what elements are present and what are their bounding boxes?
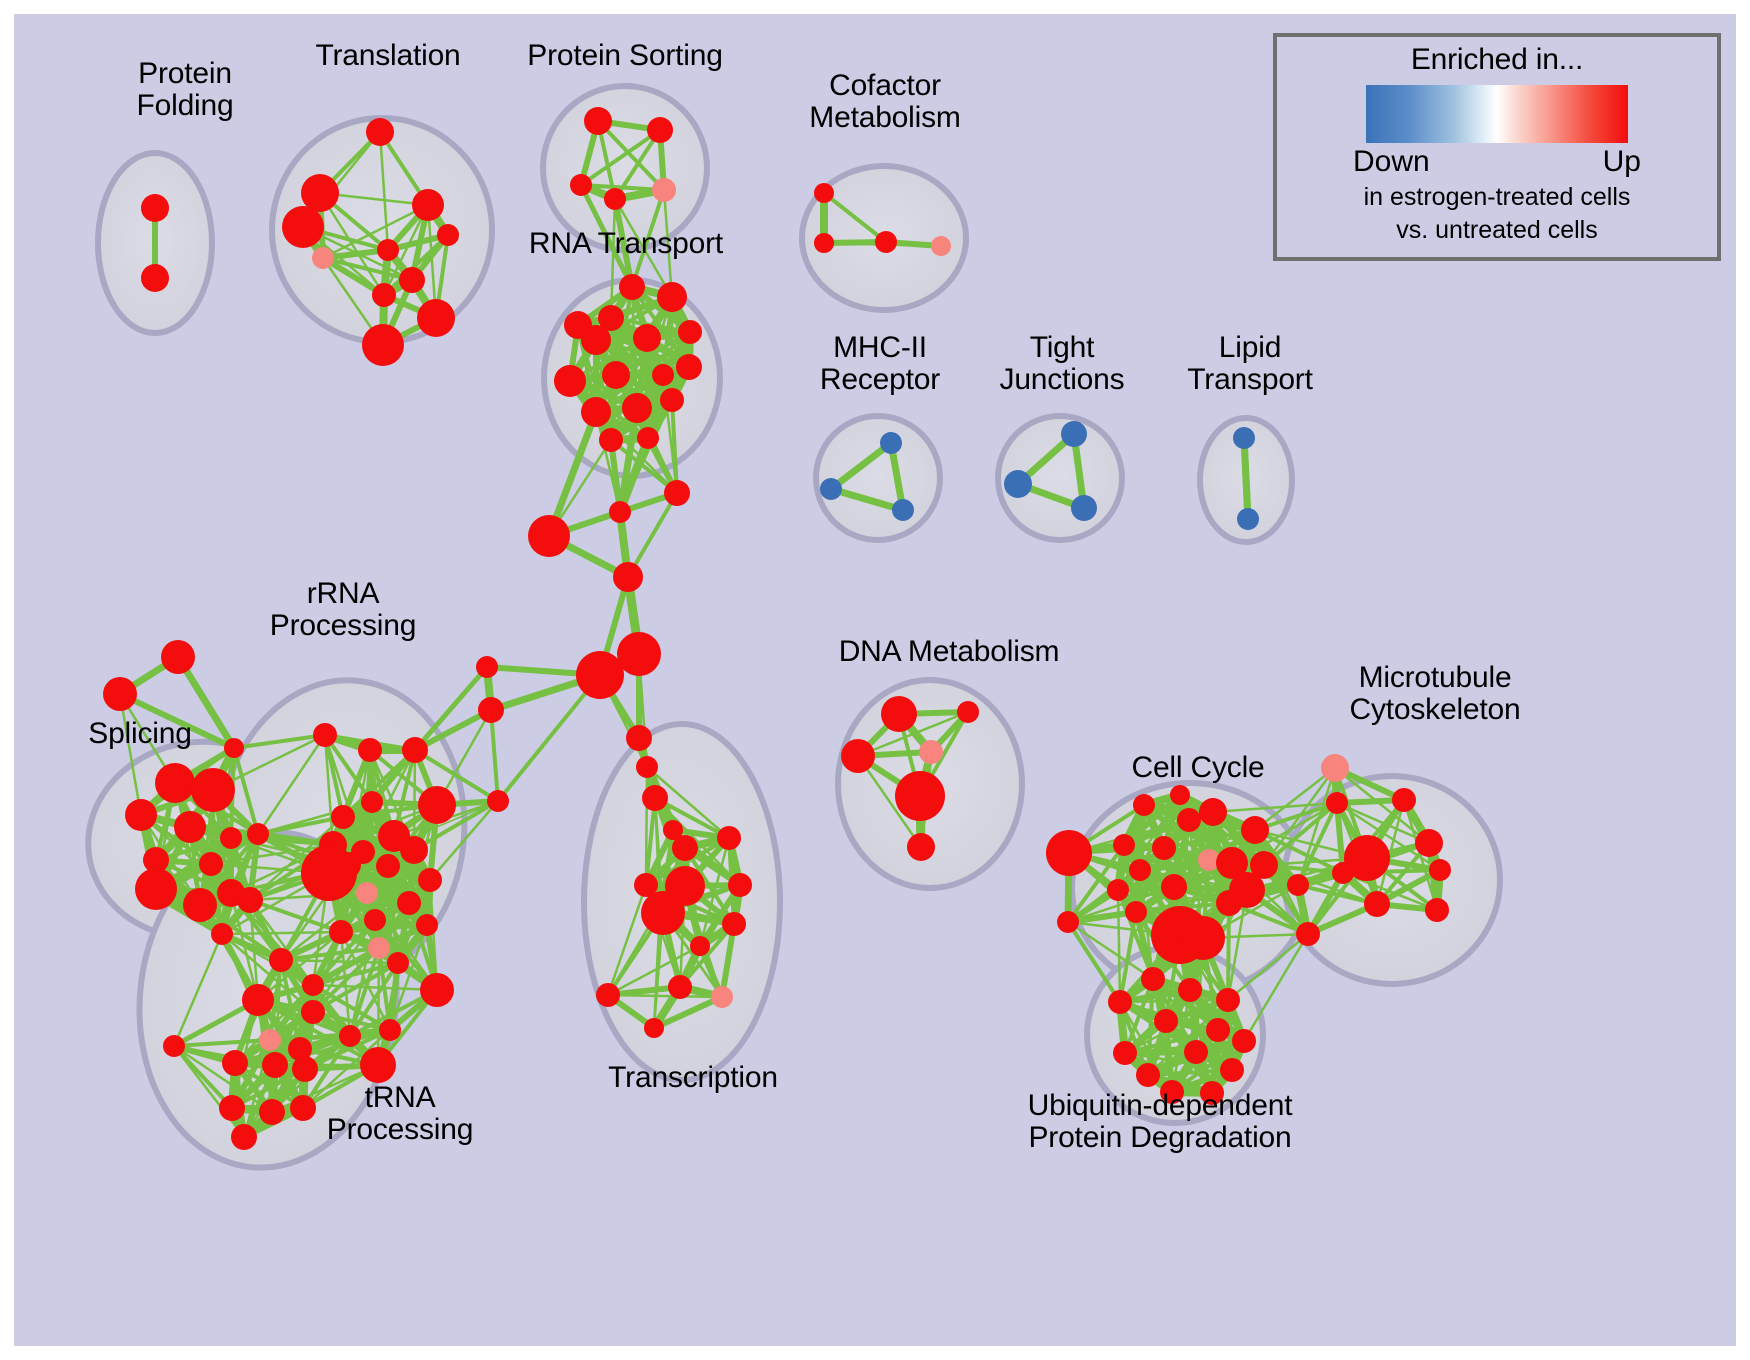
network-node[interactable] — [1113, 1041, 1137, 1065]
cluster-label-microtubule-cytoskeleton: Microtubule Cytoskeleton — [1310, 662, 1560, 726]
network-node[interactable] — [1220, 1058, 1244, 1082]
network-node[interactable] — [222, 1050, 248, 1076]
network-node[interactable] — [652, 364, 674, 386]
network-node[interactable] — [301, 845, 357, 901]
network-node[interactable] — [366, 118, 394, 146]
network-node[interactable] — [125, 799, 157, 831]
network-node[interactable] — [437, 224, 459, 246]
network-node[interactable] — [617, 632, 661, 676]
network-node[interactable] — [1321, 754, 1349, 782]
network-node[interactable] — [722, 912, 746, 936]
network-node[interactable] — [907, 833, 935, 861]
cluster-label-transcription: Transcription — [580, 1062, 806, 1094]
network-node[interactable] — [1332, 862, 1354, 884]
legend-up-label: Up — [1603, 145, 1641, 179]
network-node[interactable] — [1133, 794, 1155, 816]
cluster-label-lipid-transport: Lipid Transport — [1172, 332, 1328, 396]
cluster-label-protein-sorting: Protein Sorting — [500, 40, 750, 72]
network-node[interactable] — [331, 805, 355, 829]
network-node[interactable] — [412, 189, 444, 221]
network-node[interactable] — [269, 948, 293, 972]
network-node[interactable] — [1181, 916, 1225, 960]
network-node[interactable] — [242, 984, 274, 1016]
network-node[interactable] — [302, 974, 324, 996]
figure-root: Protein FoldingTranslationProtein Sortin… — [0, 0, 1750, 1360]
network-node[interactable] — [690, 936, 710, 956]
network-node[interactable] — [262, 1052, 288, 1078]
network-node[interactable] — [820, 478, 842, 500]
cluster-label-cofactor-metabolism: Cofactor Metabolism — [790, 70, 980, 134]
legend-panel: Enriched in... Down Up in estrogen-treat… — [1273, 33, 1721, 261]
cluster-label-rrna-processing: rRNA Processing — [248, 578, 438, 642]
network-node[interactable] — [161, 640, 195, 674]
network-node[interactable] — [602, 361, 630, 389]
network-node[interactable] — [678, 320, 702, 344]
cluster-label-tight-junctions: Tight Junctions — [988, 332, 1136, 396]
network-node[interactable] — [1392, 788, 1416, 812]
network-node[interactable] — [1216, 890, 1242, 916]
legend-caption-line2: vs. untreated cells — [1396, 216, 1598, 245]
network-node[interactable] — [1206, 1018, 1230, 1042]
network-node[interactable] — [1415, 829, 1443, 857]
network-node[interactable] — [609, 501, 631, 523]
network-node[interactable] — [487, 790, 509, 812]
network-node[interactable] — [652, 178, 676, 202]
network-node[interactable] — [581, 397, 611, 427]
network-node[interactable] — [313, 723, 337, 747]
network-node[interactable] — [361, 791, 383, 813]
network-node[interactable] — [657, 282, 687, 312]
network-node[interactable] — [622, 393, 652, 423]
network-node[interactable] — [1107, 879, 1129, 901]
network-node[interactable] — [312, 247, 334, 269]
network-node[interactable] — [637, 427, 659, 449]
network-node[interactable] — [478, 697, 504, 723]
network-node[interactable] — [402, 737, 428, 763]
network-node[interactable] — [103, 677, 137, 711]
network-node[interactable] — [191, 768, 235, 812]
network-node[interactable] — [1129, 859, 1151, 881]
cluster-label-translation: Translation — [288, 40, 488, 72]
network-node[interactable] — [1233, 427, 1255, 449]
network-node[interactable] — [292, 1056, 318, 1082]
network-node[interactable] — [339, 1025, 361, 1047]
network-node[interactable] — [476, 656, 498, 678]
network-node[interactable] — [368, 937, 390, 959]
network-node[interactable] — [1296, 922, 1320, 946]
network-node[interactable] — [584, 107, 612, 135]
network-node[interactable] — [1326, 792, 1348, 814]
cluster-label-rna-transport: RNA Transport — [498, 228, 754, 260]
cluster-label-cell-cycle: Cell Cycle — [1108, 752, 1288, 784]
network-node[interactable] — [664, 480, 690, 506]
network-node[interactable] — [814, 183, 834, 203]
network-node[interactable] — [554, 365, 586, 397]
network-node[interactable] — [841, 739, 875, 773]
network-node[interactable] — [1241, 816, 1269, 844]
cluster-label-mhc-ii-receptor: MHC-II Receptor — [800, 332, 960, 396]
cluster-hull-mhc-ii-receptor[interactable] — [816, 416, 940, 540]
network-node[interactable] — [599, 428, 623, 452]
network-node[interactable] — [711, 986, 733, 1008]
network-node[interactable] — [957, 701, 979, 723]
network-node[interactable] — [875, 231, 897, 253]
network-node[interactable] — [362, 324, 404, 366]
network-node[interactable] — [376, 854, 400, 878]
network-node[interactable] — [581, 325, 611, 355]
network-node[interactable] — [892, 499, 914, 521]
legend-title: Enriched in... — [1411, 43, 1583, 77]
network-node[interactable] — [141, 194, 169, 222]
network-node[interactable] — [1199, 798, 1227, 826]
network-node[interactable] — [301, 1000, 325, 1024]
network-edge — [491, 710, 498, 801]
network-node[interactable] — [400, 836, 428, 864]
network-node[interactable] — [626, 725, 652, 751]
cluster-label-dna-metabolism: DNA Metabolism — [822, 636, 1076, 668]
legend-down-label: Down — [1353, 145, 1430, 179]
cluster-label-splicing: Splicing — [60, 718, 220, 750]
network-node[interactable] — [1004, 470, 1032, 498]
legend-color-gradient-bar — [1366, 85, 1628, 143]
network-node[interactable] — [895, 771, 945, 821]
network-node[interactable] — [1170, 785, 1190, 805]
network-node[interactable] — [135, 868, 177, 910]
network-node[interactable] — [301, 174, 339, 212]
network-node[interactable] — [570, 174, 592, 196]
network-node[interactable] — [1061, 421, 1087, 447]
network-node[interactable] — [397, 891, 421, 915]
network-node[interactable] — [676, 354, 702, 380]
network-node[interactable] — [619, 274, 645, 300]
legend-endpoints: Down Up — [1353, 145, 1641, 179]
network-node[interactable] — [417, 299, 455, 337]
cluster-label-protein-folding: Protein Folding — [90, 58, 280, 122]
network-edge — [1244, 438, 1248, 519]
network-node[interactable] — [1046, 830, 1092, 876]
network-node[interactable] — [220, 827, 242, 849]
network-node[interactable] — [528, 515, 570, 557]
network-node[interactable] — [1136, 1063, 1160, 1087]
cluster-label-trna-processing: tRNA Processing — [310, 1082, 490, 1146]
network-node[interactable] — [420, 973, 454, 1007]
network-node[interactable] — [1071, 495, 1097, 521]
network-node[interactable] — [141, 264, 169, 292]
network-node[interactable] — [237, 887, 263, 913]
network-node[interactable] — [642, 785, 668, 811]
network-node[interactable] — [1141, 967, 1165, 991]
network-node[interactable] — [881, 696, 917, 732]
network-node[interactable] — [1216, 988, 1240, 1012]
network-node[interactable] — [418, 868, 442, 892]
network-edge — [1228, 903, 1229, 1000]
network-node[interactable] — [1154, 1009, 1178, 1033]
network-node[interactable] — [1057, 911, 1079, 933]
network-node[interactable] — [372, 283, 396, 307]
network-node[interactable] — [1184, 1040, 1208, 1064]
network-node[interactable] — [880, 432, 902, 454]
network-node[interactable] — [604, 188, 626, 210]
network-node[interactable] — [1125, 901, 1147, 923]
network-node[interactable] — [416, 914, 438, 936]
network-node[interactable] — [387, 952, 409, 974]
network-node[interactable] — [199, 852, 223, 876]
network-node[interactable] — [247, 823, 269, 845]
network-node[interactable] — [282, 206, 324, 248]
network-node[interactable] — [183, 888, 217, 922]
network-node[interactable] — [576, 651, 624, 699]
network-node[interactable] — [728, 873, 752, 897]
network-node[interactable] — [672, 835, 698, 861]
network-node[interactable] — [660, 388, 684, 412]
network-node[interactable] — [399, 267, 425, 293]
network-node[interactable] — [163, 1035, 185, 1057]
network-node[interactable] — [1429, 859, 1451, 881]
network-node[interactable] — [1177, 808, 1201, 832]
network-node[interactable] — [1232, 1029, 1256, 1053]
network-node[interactable] — [919, 740, 943, 764]
network-node[interactable] — [613, 562, 643, 592]
network-node[interactable] — [717, 826, 741, 850]
network-node[interactable] — [418, 786, 456, 824]
network-node[interactable] — [211, 923, 233, 945]
network-node[interactable] — [377, 239, 399, 261]
network-node[interactable] — [231, 1124, 257, 1150]
cluster-hull-protein-sorting[interactable] — [543, 86, 707, 250]
network-node[interactable] — [641, 891, 685, 935]
network-node[interactable] — [219, 1095, 245, 1121]
network-node[interactable] — [644, 1018, 664, 1038]
network-node[interactable] — [1364, 891, 1390, 917]
network-node[interactable] — [259, 1029, 281, 1051]
network-node[interactable] — [596, 983, 620, 1007]
cluster-label-ubiquitin-protein-degradation: Ubiquitin-dependent Protein Degradation — [1000, 1090, 1320, 1154]
network-node[interactable] — [329, 920, 353, 944]
network-node[interactable] — [1113, 834, 1135, 856]
network-node[interactable] — [668, 975, 692, 999]
network-node[interactable] — [814, 233, 834, 253]
network-node[interactable] — [1161, 874, 1187, 900]
network-node[interactable] — [1108, 990, 1132, 1014]
network-node[interactable] — [364, 909, 386, 931]
network-node[interactable] — [1425, 898, 1449, 922]
network-node[interactable] — [224, 738, 244, 758]
network-node[interactable] — [636, 756, 658, 778]
network-node[interactable] — [1237, 508, 1259, 530]
network-node[interactable] — [379, 1019, 401, 1041]
network-node[interactable] — [174, 811, 206, 843]
network-node[interactable] — [358, 738, 382, 762]
network-node[interactable] — [155, 763, 195, 803]
network-node[interactable] — [1178, 978, 1202, 1002]
network-node[interactable] — [647, 117, 673, 143]
network-node[interactable] — [931, 236, 951, 256]
network-node[interactable] — [1152, 836, 1176, 860]
network-node[interactable] — [633, 324, 661, 352]
network-node[interactable] — [356, 882, 378, 904]
network-node[interactable] — [1287, 874, 1309, 896]
network-node[interactable] — [259, 1099, 285, 1125]
network-node[interactable] — [360, 1047, 396, 1083]
legend-caption-line1: in estrogen-treated cells — [1364, 183, 1631, 212]
